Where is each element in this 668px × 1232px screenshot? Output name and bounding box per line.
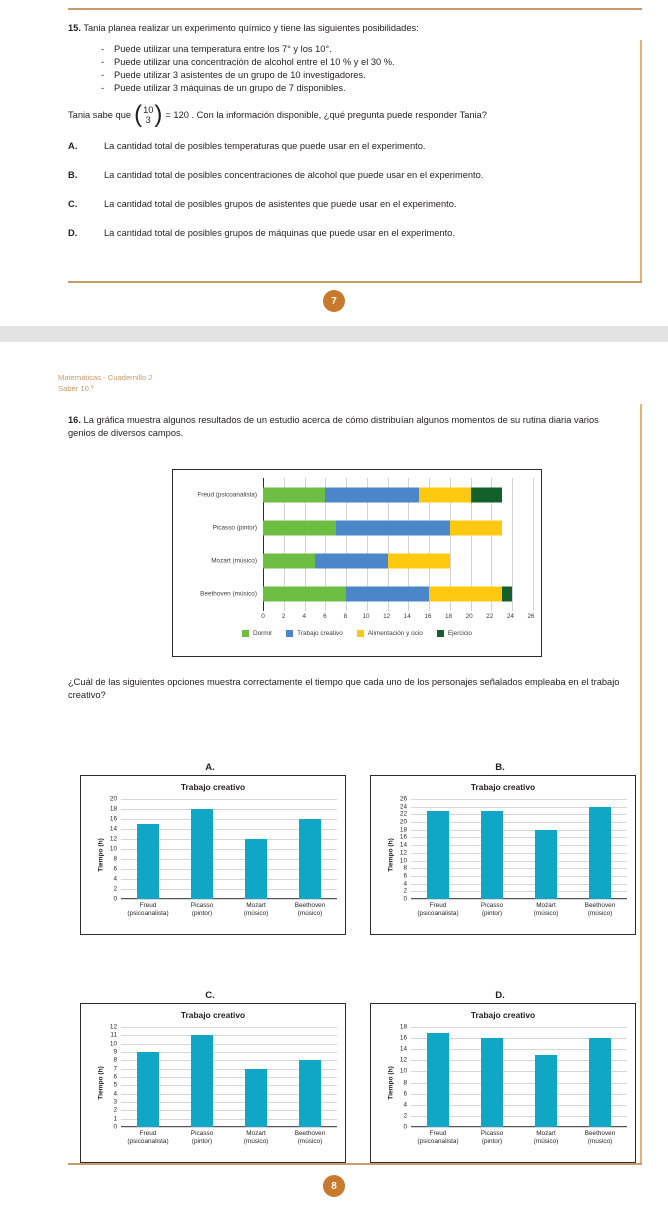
x-tick-label-line: Beethoven xyxy=(295,902,326,910)
chart-y-axis-label: Tiempo (h) xyxy=(387,1066,394,1100)
y-tick-label: 4 xyxy=(113,876,117,883)
stacked-bar-chart: Freud (psicoanalista)Picasso (pintor)Moz… xyxy=(172,469,542,657)
x-tick-label: 12 xyxy=(383,613,390,620)
option-d-letter: D. xyxy=(68,228,104,238)
y-tick-label: 18 xyxy=(400,1024,407,1031)
y-tick-label: 20 xyxy=(110,796,117,803)
legend-item: Dormir xyxy=(242,630,272,637)
question-15-number: 15. xyxy=(68,23,81,33)
y-tick-label: 8 xyxy=(113,856,117,863)
x-tick-label-line: (pintor) xyxy=(481,910,503,918)
bullet-item: -Puede utilizar 3 máquinas de un grupo d… xyxy=(68,82,628,95)
legend-swatch xyxy=(242,630,249,637)
x-tick-label-line: Freud xyxy=(417,902,458,910)
y-tick-label: 7 xyxy=(113,1065,117,1072)
legend-label: Trabajo creativo xyxy=(297,630,343,637)
chart-y-axis-label: Tiempo (h) xyxy=(97,838,104,872)
gridline xyxy=(411,899,627,900)
booklet-header-line1: Matemáticas - Cuadernillo 2 xyxy=(58,372,153,383)
chart-y-axis-label: Tiempo (h) xyxy=(97,1066,104,1100)
dash-marker: - xyxy=(101,43,104,56)
bar xyxy=(427,1033,449,1127)
y-tick-label: 4 xyxy=(403,1101,407,1108)
bar-segment-trabajo-creativo xyxy=(346,587,429,602)
x-tick-label-line: Freud xyxy=(127,902,168,910)
x-tick-label-line: Picasso xyxy=(481,1130,503,1138)
x-tick-label-line: Beethoven xyxy=(585,1130,616,1138)
y-tick-label: 4 xyxy=(403,880,407,887)
dash-marker: - xyxy=(101,82,104,95)
y-tick-label: 12 xyxy=(400,849,407,856)
x-tick-label: Mozart(músico) xyxy=(534,902,559,918)
x-tick-label: Beethoven(músico) xyxy=(585,1130,616,1146)
bar-segment-trabajo-creativo xyxy=(315,554,388,569)
x-tick-label-line: (músico) xyxy=(244,910,269,918)
x-tick-label-line: Mozart xyxy=(244,902,269,910)
option-c-label: C. xyxy=(180,990,240,1001)
x-tick-label: Beethoven(músico) xyxy=(295,1130,326,1146)
x-tick-label: 20 xyxy=(466,613,473,620)
x-tick-label: Beethoven(músico) xyxy=(585,902,616,918)
y-tick-label: 14 xyxy=(110,826,117,833)
x-tick-label-line: (músico) xyxy=(534,910,559,918)
stacked-bar xyxy=(263,554,533,569)
bar-segment-trabajo-creativo xyxy=(336,520,450,535)
option-b-letter: B. xyxy=(68,170,104,180)
x-tick-label: 24 xyxy=(507,613,514,620)
page7-bottom-rule xyxy=(68,281,642,283)
bar-segment-ejercicio xyxy=(502,587,512,602)
bullet-item: -Puede utilizar una concentración de alc… xyxy=(68,56,628,69)
dash-marker: - xyxy=(101,69,104,82)
x-tick-label-line: (pintor) xyxy=(191,910,213,918)
stacked-bar xyxy=(263,487,533,502)
bar xyxy=(191,1035,213,1127)
x-tick-label-line: (pintor) xyxy=(191,1138,213,1146)
y-tick-label: 8 xyxy=(403,865,407,872)
x-tick-label: 6 xyxy=(323,613,327,620)
x-tick-label: 8 xyxy=(344,613,348,620)
x-tick-label-line: (músico) xyxy=(295,1138,326,1146)
chart-title: Trabajo creativo xyxy=(371,1010,635,1020)
x-tick-label-line: (músico) xyxy=(585,910,616,918)
bar xyxy=(481,811,503,899)
gridline xyxy=(411,1127,627,1128)
formula-suffix: = 120 . Con la información disponible, ¿… xyxy=(165,110,487,120)
bullet-text: Puede utilizar una temperatura entre los… xyxy=(114,44,332,54)
y-tick-label: 0 xyxy=(403,1124,407,1131)
bar xyxy=(481,1038,503,1127)
option-b-label: B. xyxy=(470,762,530,773)
option-b-chart[interactable]: Trabajo creativo Tiempo (h) 024681012141… xyxy=(370,775,636,935)
question-15-options: A. La cantidad total de posibles tempera… xyxy=(68,141,628,238)
dash-marker: - xyxy=(101,56,104,69)
question-15-bullets: -Puede utilizar una temperatura entre lo… xyxy=(68,43,628,96)
gridline xyxy=(121,899,337,900)
booklet-header-line2: Saber 10.º xyxy=(58,383,153,394)
y-tick-label: 1 xyxy=(113,1115,117,1122)
y-tick-label: 2 xyxy=(113,886,117,893)
x-tick-label: 4 xyxy=(302,613,306,620)
x-tick-label: 2 xyxy=(282,613,286,620)
x-tick-label: Beethoven(músico) xyxy=(295,902,326,918)
gridline xyxy=(121,1044,337,1045)
stacked-chart-x-ticks: 02468101214161820222426 xyxy=(263,613,531,625)
x-tick-label: Mozart(músico) xyxy=(244,902,269,918)
gridline xyxy=(121,1127,337,1128)
page8-right-frame xyxy=(640,404,642,1164)
chart-plot-area: 02468101214161820222426 xyxy=(411,799,627,899)
bar-segment-dormir xyxy=(263,520,336,535)
bar xyxy=(245,839,267,899)
y-tick-label: 12 xyxy=(110,836,117,843)
chart-title: Trabajo creativo xyxy=(371,782,635,792)
x-tick-label: Freud(psicoanalista) xyxy=(127,902,168,918)
bar xyxy=(137,1052,159,1127)
page-number-8: 8 xyxy=(323,1175,345,1197)
question-15-formula-line: Tania sabe que ( 10 3 ) = 120 . Con la i… xyxy=(68,105,628,125)
top-rule xyxy=(68,8,642,10)
chart-plot-area: 0123456789101112 xyxy=(121,1027,337,1127)
legend-label: Ejercicio xyxy=(448,630,472,637)
y-tick-label: 0 xyxy=(113,1124,117,1131)
y-tick-label: 11 xyxy=(110,1032,117,1039)
y-tick-label: 8 xyxy=(113,1057,117,1064)
right-paren-glyph: ) xyxy=(154,103,162,127)
chart-y-axis-label: Tiempo (h) xyxy=(387,838,394,872)
binomial-k: 3 xyxy=(146,115,151,125)
y-tick-label: 6 xyxy=(403,872,407,879)
page-separator-band xyxy=(0,326,668,342)
bar-segment-dormir xyxy=(263,487,325,502)
option-a-label: A. xyxy=(180,762,240,773)
x-tick-label-line: (psicoanalista) xyxy=(417,1138,458,1146)
gridline xyxy=(411,1027,627,1028)
bullet-text: Puede utilizar 3 asistentes de un grupo … xyxy=(114,70,366,80)
x-tick-label-line: Picasso xyxy=(191,902,213,910)
x-tick-label: Mozart(músico) xyxy=(244,1130,269,1146)
x-tick-label: 0 xyxy=(261,613,265,620)
question-16-prompt: ¿Cuál de las siguientes opciones muestra… xyxy=(68,676,628,702)
legend-swatch xyxy=(437,630,444,637)
bar-segment-alimentaci-n-y-ocio xyxy=(429,587,502,602)
bar xyxy=(191,809,213,899)
y-tick-label: 0 xyxy=(113,896,117,903)
bullet-item: -Puede utilizar 3 asistentes de un grupo… xyxy=(68,69,628,82)
x-tick-label: Freud(psicoanalista) xyxy=(417,1130,458,1146)
chart-plot-area: 024681012141618 xyxy=(411,1027,627,1127)
x-tick-label-line: Mozart xyxy=(244,1130,269,1138)
x-tick-label: 18 xyxy=(445,613,452,620)
category-label: Beethoven (músico) xyxy=(200,591,257,598)
x-tick-label-line: (músico) xyxy=(585,1138,616,1146)
question-15-stem-text: Tania planea realizar un experimento quí… xyxy=(83,23,418,33)
binomial-coefficient: ( 10 3 ) xyxy=(134,105,162,125)
x-tick-label-line: Mozart xyxy=(534,902,559,910)
y-tick-label: 22 xyxy=(400,811,407,818)
legend-item: Trabajo creativo xyxy=(286,630,343,637)
x-tick-label-line: (músico) xyxy=(534,1138,559,1146)
y-tick-label: 2 xyxy=(113,1107,117,1114)
category-label: Picasso (pintor) xyxy=(213,524,257,531)
bar-segment-alimentaci-n-y-ocio xyxy=(388,554,450,569)
question-16-stem-text: La gráfica muestra algunos resultados de… xyxy=(68,415,599,438)
stacked-chart-legend: DormirTrabajo creativoAlimentación y oci… xyxy=(173,630,541,637)
stacked-bar xyxy=(263,587,533,602)
y-tick-label: 2 xyxy=(403,888,407,895)
x-tick-label: 26 xyxy=(527,613,534,620)
x-tick-label-line: Picasso xyxy=(191,1130,213,1138)
option-c-chart[interactable]: Trabajo creativo Tiempo (h) 012345678910… xyxy=(80,1003,346,1163)
category-label: Freud (psicoanalista) xyxy=(197,491,257,498)
y-tick-label: 16 xyxy=(400,1035,407,1042)
legend-swatch xyxy=(357,630,364,637)
chart-plot-area: 02468101214161820 xyxy=(121,799,337,899)
x-tick-label: 16 xyxy=(424,613,431,620)
bar-segment-alimentaci-n-y-ocio xyxy=(450,520,502,535)
y-tick-label: 3 xyxy=(113,1099,117,1106)
y-tick-label: 18 xyxy=(110,806,117,813)
bar xyxy=(427,811,449,899)
option-c[interactable]: C. La cantidad total de posibles grupos … xyxy=(68,199,628,209)
bar xyxy=(589,1038,611,1127)
y-tick-label: 14 xyxy=(400,842,407,849)
y-tick-label: 12 xyxy=(400,1057,407,1064)
binomial-n: 10 xyxy=(143,105,153,115)
page8-bottom-rule xyxy=(68,1163,642,1165)
y-tick-label: 10 xyxy=(110,1040,117,1047)
chart-x-axis-labels: Freud(psicoanalista)Picasso(pintor)Mozar… xyxy=(411,902,627,928)
y-tick-label: 10 xyxy=(400,1068,407,1075)
y-tick-label: 16 xyxy=(110,816,117,823)
x-tick-label: Freud(psicoanalista) xyxy=(417,902,458,918)
chart-x-axis-labels: Freud(psicoanalista)Picasso(pintor)Mozar… xyxy=(121,1130,337,1156)
x-tick-label-line: Picasso xyxy=(481,902,503,910)
question-16-stem: 16. La gráfica muestra algunos resultado… xyxy=(68,414,628,439)
bar xyxy=(245,1069,267,1127)
bar xyxy=(535,830,557,899)
chart-title: Trabajo creativo xyxy=(81,782,345,792)
y-tick-label: 14 xyxy=(400,1046,407,1053)
page7-right-frame xyxy=(640,40,642,282)
x-tick-label: Mozart(músico) xyxy=(534,1130,559,1146)
bar xyxy=(299,819,321,899)
stacked-bar xyxy=(263,520,533,535)
y-tick-label: 9 xyxy=(113,1049,117,1056)
bar-segment-dormir xyxy=(263,587,346,602)
x-tick-label-line: (músico) xyxy=(244,1138,269,1146)
gridline xyxy=(411,799,627,800)
bar-segment-trabajo-creativo xyxy=(325,487,418,502)
gridline xyxy=(121,799,337,800)
bar-segment-ejercicio xyxy=(471,487,502,502)
y-tick-label: 4 xyxy=(113,1090,117,1097)
left-paren-glyph: ( xyxy=(134,103,142,127)
option-c-letter: C. xyxy=(68,199,104,209)
booklet-header: Matemáticas - Cuadernillo 2 Saber 10.º xyxy=(58,372,153,395)
x-tick-label-line: (músico) xyxy=(295,910,326,918)
question-15-block: 15. Tania planea realizar un experimento… xyxy=(68,22,628,257)
x-tick-label-line: Freud xyxy=(127,1130,168,1138)
x-tick-label: 22 xyxy=(486,613,493,620)
chart-x-axis-labels: Freud(psicoanalista)Picasso(pintor)Mozar… xyxy=(121,902,337,928)
x-tick-label: Picasso(pintor) xyxy=(191,902,213,918)
x-tick-label: Picasso(pintor) xyxy=(191,1130,213,1146)
y-tick-label: 16 xyxy=(400,834,407,841)
question-15-stem: 15. Tania planea realizar un experimento… xyxy=(68,22,628,35)
question-16-block: 16. La gráfica muestra algunos resultado… xyxy=(68,414,628,439)
question-16-number: 16. xyxy=(68,415,81,425)
binomial-stack: 10 3 xyxy=(143,105,153,125)
x-tick-label-line: (psicoanalista) xyxy=(417,910,458,918)
option-d[interactable]: D. La cantidad total de posibles grupos … xyxy=(68,228,628,238)
bullet-item: -Puede utilizar una temperatura entre lo… xyxy=(68,43,628,56)
y-tick-label: 20 xyxy=(400,819,407,826)
legend-item: Alimentación y ocio xyxy=(357,630,423,637)
y-tick-label: 10 xyxy=(110,846,117,853)
y-tick-label: 26 xyxy=(400,796,407,803)
y-tick-label: 6 xyxy=(113,866,117,873)
option-a[interactable]: A. La cantidad total de posibles tempera… xyxy=(68,141,628,151)
y-tick-label: 12 xyxy=(110,1024,117,1031)
y-tick-label: 6 xyxy=(113,1074,117,1081)
legend-item: Ejercicio xyxy=(437,630,472,637)
x-tick-label-line: Beethoven xyxy=(585,902,616,910)
formula-prefix: Tania sabe que xyxy=(68,110,131,120)
x-tick-label-line: Freud xyxy=(417,1130,458,1138)
y-tick-label: 6 xyxy=(403,1090,407,1097)
document-page: 15. Tania planea realizar un experimento… xyxy=(0,0,668,1232)
x-tick-label: Picasso(pintor) xyxy=(481,902,503,918)
y-tick-label: 5 xyxy=(113,1082,117,1089)
bullet-text: Puede utilizar una concentración de alco… xyxy=(114,57,395,67)
x-tick-label: 14 xyxy=(404,613,411,620)
legend-swatch xyxy=(286,630,293,637)
gridline xyxy=(533,478,534,611)
bullet-text: Puede utilizar 3 máquinas de un grupo de… xyxy=(114,83,346,93)
option-d-text: La cantidad total de posibles grupos de … xyxy=(104,228,628,238)
gridline xyxy=(121,1027,337,1028)
legend-label: Dormir xyxy=(253,630,272,637)
option-b-text: La cantidad total de posibles concentrac… xyxy=(104,170,628,180)
category-label: Mozart (músico) xyxy=(211,558,257,565)
chart-title: Trabajo creativo xyxy=(81,1010,345,1020)
stacked-chart-category-labels: Freud (psicoanalista)Picasso (pintor)Moz… xyxy=(173,478,261,611)
bar-segment-alimentaci-n-y-ocio xyxy=(419,487,471,502)
option-a-letter: A. xyxy=(68,141,104,151)
y-tick-label: 24 xyxy=(400,803,407,810)
y-tick-label: 0 xyxy=(403,896,407,903)
gridline xyxy=(121,809,337,810)
y-tick-label: 2 xyxy=(403,1112,407,1119)
gridline xyxy=(121,1035,337,1036)
option-a-text: La cantidad total de posibles temperatur… xyxy=(104,141,628,151)
x-tick-label-line: Beethoven xyxy=(295,1130,326,1138)
page-number-7: 7 xyxy=(323,290,345,312)
x-tick-label-line: Mozart xyxy=(534,1130,559,1138)
option-d-chart[interactable]: Trabajo creativo Tiempo (h) 024681012141… xyxy=(370,1003,636,1163)
x-tick-label: Freud(psicoanalista) xyxy=(127,1130,168,1146)
bar xyxy=(589,807,611,899)
option-c-text: La cantidad total de posibles grupos de … xyxy=(104,199,628,209)
y-tick-label: 18 xyxy=(400,826,407,833)
x-tick-label-line: (pintor) xyxy=(481,1138,503,1146)
bar-segment-dormir xyxy=(263,554,315,569)
bar xyxy=(535,1055,557,1127)
chart-x-axis-labels: Freud(psicoanalista)Picasso(pintor)Mozar… xyxy=(411,1130,627,1156)
y-tick-label: 10 xyxy=(400,857,407,864)
option-d-label: D. xyxy=(470,990,530,1001)
stacked-chart-plot xyxy=(263,478,533,611)
y-tick-label: 8 xyxy=(403,1079,407,1086)
x-tick-label: Picasso(pintor) xyxy=(481,1130,503,1146)
option-a-chart[interactable]: Trabajo creativo Tiempo (h) 024681012141… xyxy=(80,775,346,935)
bar xyxy=(137,824,159,899)
x-tick-label-line: (psicoanalista) xyxy=(127,910,168,918)
bar xyxy=(299,1060,321,1127)
legend-label: Alimentación y ocio xyxy=(368,630,423,637)
x-tick-label-line: (psicoanalista) xyxy=(127,1138,168,1146)
x-tick-label: 10 xyxy=(363,613,370,620)
option-b[interactable]: B. La cantidad total de posibles concent… xyxy=(68,170,628,180)
